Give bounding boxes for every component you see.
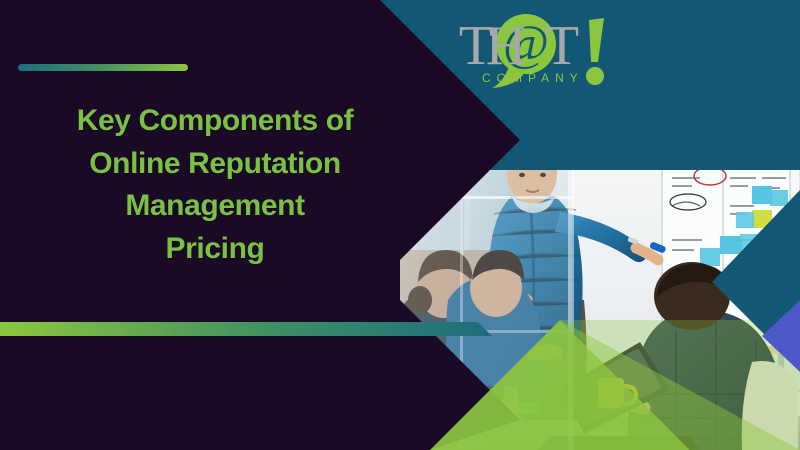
logo-tagline: COMPANY	[482, 71, 584, 85]
headline-line-2: Online Reputation	[14, 143, 416, 186]
logo-mark: @ T H T COMPANY	[452, 6, 632, 98]
accent-bar-top	[18, 64, 188, 71]
blog-banner: Key Components of Online Reputation Mana…	[0, 0, 800, 450]
logo-letter-h: H	[486, 15, 526, 77]
text-panel: Key Components of Online Reputation Mana…	[0, 0, 430, 450]
logo-letter-t2: T	[545, 15, 579, 77]
page-title: Key Components of Online Reputation Mana…	[0, 100, 430, 270]
headline-line-3: Management	[14, 185, 416, 228]
headline-line-4: Pricing	[14, 228, 416, 271]
exclamation-dot-icon	[586, 67, 604, 85]
that-company-logo[interactable]: @ T H T COMPANY	[452, 6, 632, 98]
exclamation-bar-icon	[589, 18, 604, 62]
headline-line-1: Key Components of	[14, 100, 416, 143]
